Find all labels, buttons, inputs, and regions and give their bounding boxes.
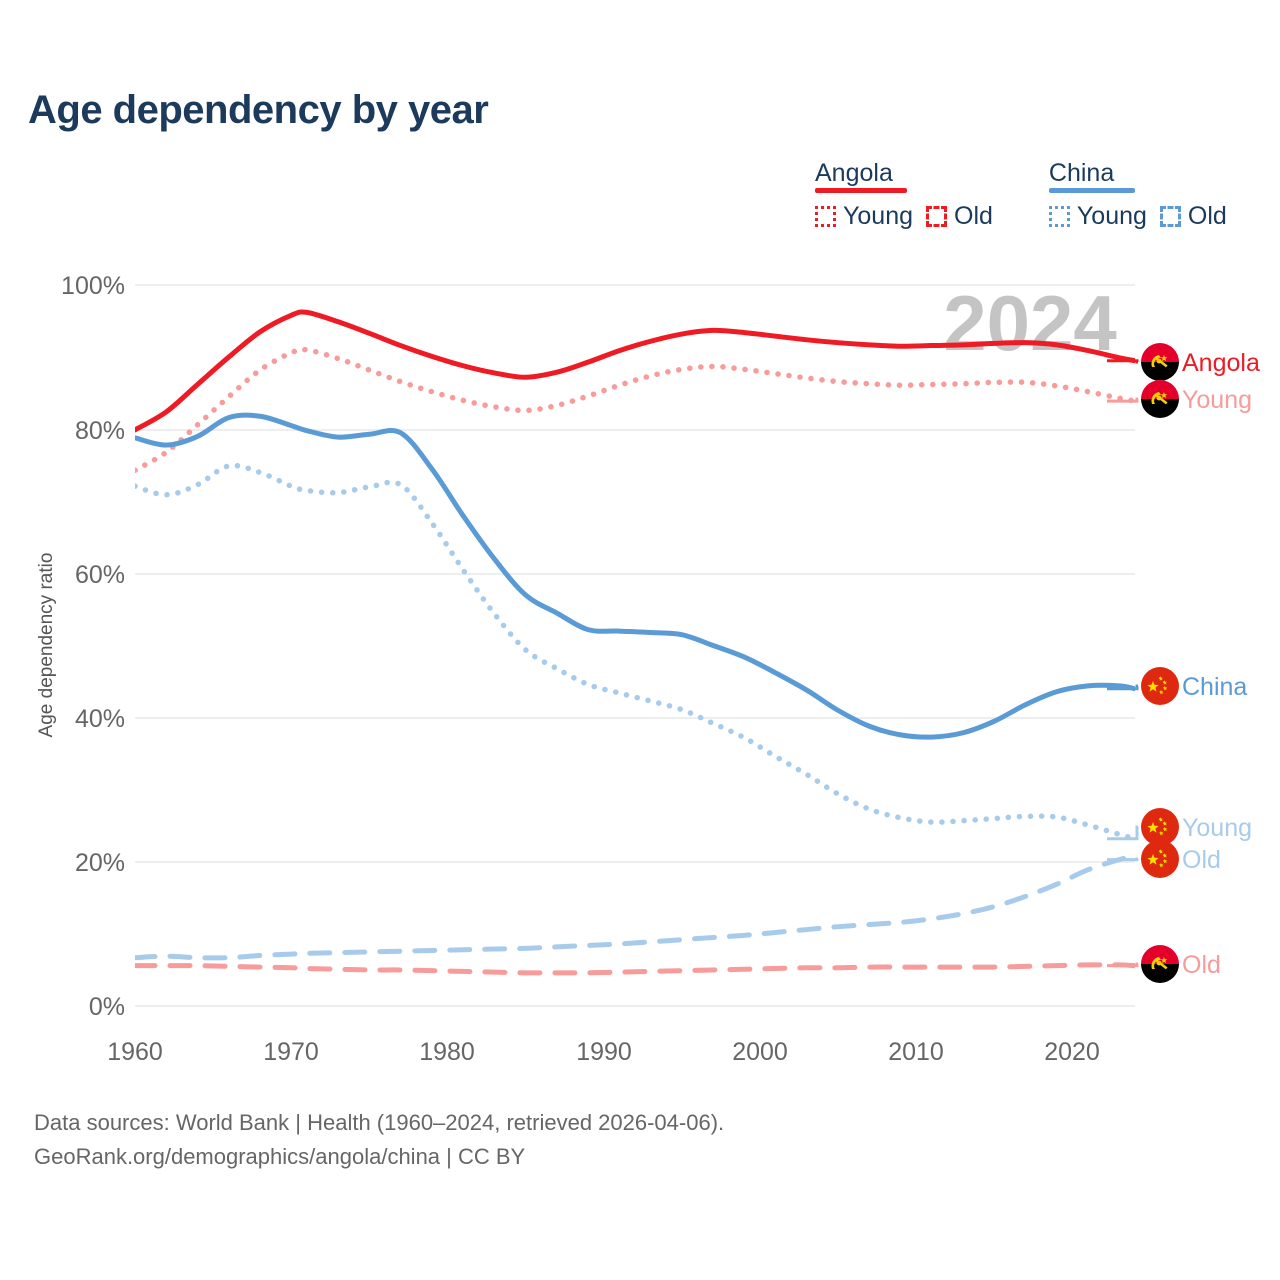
y-tick-40: 40%: [75, 705, 125, 733]
series-line-angola-old[interactable]: [135, 965, 1135, 973]
end-label-angola-0: Angola: [1182, 349, 1260, 377]
x-tick-2000: 2000: [732, 1038, 788, 1066]
footer: Data sources: World Bank | Health (1960–…: [34, 1106, 724, 1174]
angola-flag-icon: [1141, 380, 1179, 418]
line-chart: 100% 80% 60% 40% 20% 0% Age dependency r…: [0, 0, 1280, 1280]
y-tick-20: 20%: [75, 849, 125, 877]
y-tick-0: 0%: [89, 993, 125, 1021]
x-tick-1980: 1980: [419, 1038, 475, 1066]
x-tick-1990: 1990: [576, 1038, 632, 1066]
y-tick-60: 60%: [75, 561, 125, 589]
series-line-china-young[interactable]: [135, 466, 1135, 839]
angola-flag-icon: [1141, 945, 1179, 983]
y-tick-100: 100%: [61, 272, 125, 300]
china-flag-icon: [1141, 840, 1179, 878]
x-tick-1960: 1960: [107, 1038, 163, 1066]
angola-flag-icon: [1141, 343, 1179, 381]
china-flag-icon: [1141, 667, 1179, 705]
end-connector: [1107, 859, 1138, 860]
footer-line-sources: Data sources: World Bank | Health (1960–…: [34, 1106, 724, 1140]
end-label-young-1: Young: [1182, 386, 1252, 414]
end-connector: [1107, 827, 1138, 839]
y-gridlines: [135, 285, 1135, 1006]
y-axis-title: Age dependency ratio: [36, 553, 57, 738]
footer-line-attribution: GeoRank.org/demographics/angola/china | …: [34, 1140, 724, 1174]
end-label-china-2: China: [1182, 673, 1247, 701]
end-label-old-4: Old: [1182, 846, 1221, 874]
end-labels-layer: AngolaYoungChinaYoungOldOld: [1107, 343, 1260, 983]
end-connector: [1107, 361, 1138, 362]
end-label-young-3: Young: [1182, 814, 1252, 842]
x-tick-2020: 2020: [1044, 1038, 1100, 1066]
x-tick-1970: 1970: [263, 1038, 319, 1066]
x-tick-2010: 2010: [888, 1038, 944, 1066]
series-line-angola-young[interactable]: [135, 349, 1135, 470]
y-tick-80: 80%: [75, 417, 125, 445]
x-axis-labels: 1960 1970 1980 1990 2000 2010 2020: [107, 1038, 1100, 1066]
series-line-china-total[interactable]: [135, 415, 1135, 737]
end-connector: [1107, 964, 1138, 966]
series-line-china-old[interactable]: [135, 856, 1135, 958]
series-layer: [135, 312, 1135, 973]
year-watermark: 2024: [943, 279, 1117, 367]
y-axis-labels: 100% 80% 60% 40% 20% 0%: [61, 272, 125, 1021]
end-label-old-5: Old: [1182, 951, 1221, 979]
